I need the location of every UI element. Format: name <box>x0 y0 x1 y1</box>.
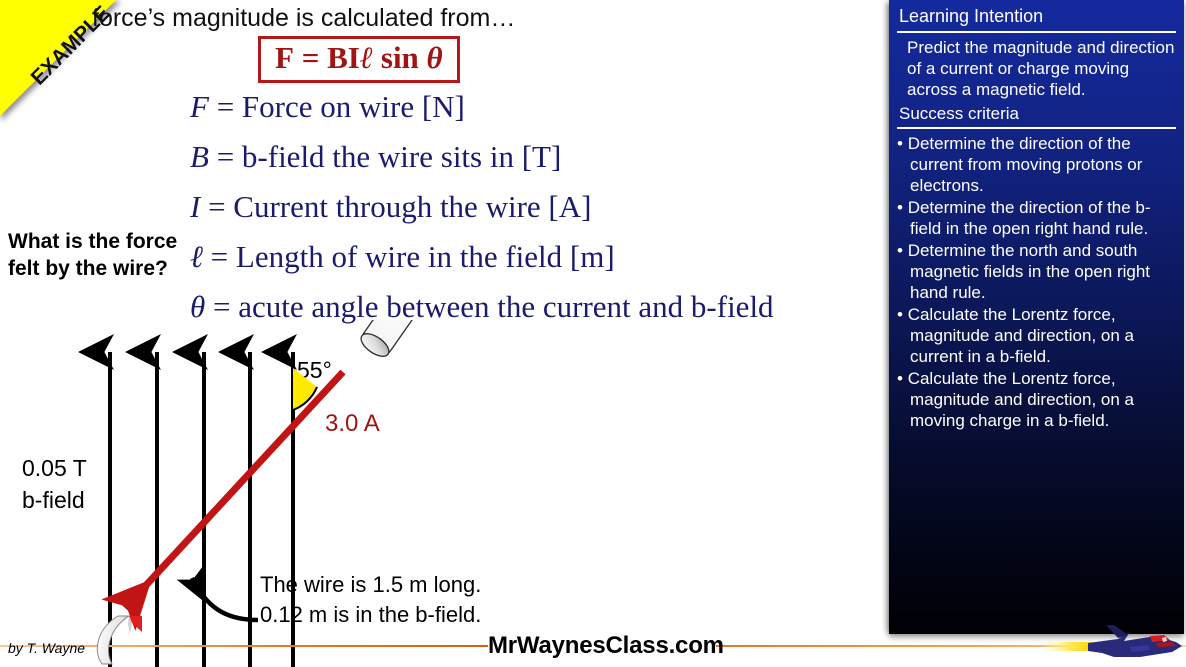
definition-row: F = Force on wire [N] <box>190 82 774 132</box>
success-criteria-item: Calculate the Lorentz force, magnitude a… <box>897 304 1176 367</box>
definition-symbol: B <box>190 139 209 174</box>
question-prompt: What is the force felt by the wire? <box>8 228 183 282</box>
definition-text: = b-field the wire sits in [T] <box>217 139 562 174</box>
panel-subheader: Success criteria <box>889 102 1184 127</box>
definition-row: I = Current through the wire [A] <box>190 182 774 232</box>
definition-row: ℓ = Length of wire in the field [m] <box>190 232 774 282</box>
formula-sin: sin <box>381 40 419 75</box>
definition-symbol: θ <box>190 289 205 324</box>
definition-symbol: ℓ <box>190 239 203 274</box>
definition-text: = acute angle between the current and b-… <box>213 289 774 324</box>
wire-cylinder <box>357 320 470 361</box>
success-criteria-item: Determine the direction of the current f… <box>897 133 1176 196</box>
success-criteria-item: Determine the direction of the b-field i… <box>897 197 1176 239</box>
learning-panel: Learning Intention Predict the magnitude… <box>889 0 1184 634</box>
formula-i: I <box>348 40 360 75</box>
success-criteria-list: Determine the direction of the current f… <box>889 129 1184 431</box>
success-criteria-item: Determine the north and south magnetic f… <box>897 240 1176 303</box>
success-criteria-item: Calculate the Lorentz force, magnitude a… <box>897 368 1176 431</box>
physics-diagram <box>0 320 470 667</box>
panel-header: Learning Intention <box>889 0 1184 31</box>
formula-theta: θ <box>427 40 443 75</box>
definition-text: = Force on wire [N] <box>217 89 465 124</box>
jet-plane-icon <box>1044 624 1186 667</box>
site-name: MrWaynesClass.com <box>488 632 720 660</box>
formula-f: F <box>275 40 294 75</box>
formula-b: B <box>327 40 348 75</box>
lorentz-force-formula-box: F = BIℓ sin θ <box>258 36 460 83</box>
byline: by T. Wayne <box>8 640 85 656</box>
definition-symbol: I <box>190 189 200 224</box>
panel-learning-intention: Predict the magnitude and direction of a… <box>889 33 1184 102</box>
formula-ell: ℓ <box>360 40 373 75</box>
formula-equals: = <box>302 40 320 75</box>
definition-symbol: F <box>190 89 209 124</box>
definition-row: B = b-field the wire sits in [T] <box>190 132 774 182</box>
variable-definitions: F = Force on wire [N] B = b-field the wi… <box>190 82 774 332</box>
definition-text: = Length of wire in the field [m] <box>211 239 615 274</box>
slide-canvas: EXAMPLE force’s magnitude is calculated … <box>0 0 1186 667</box>
page-curl-icon <box>88 614 142 667</box>
lead-sentence: force’s magnitude is calculated from… <box>92 4 515 33</box>
definition-text: = Current through the wire [A] <box>208 189 591 224</box>
